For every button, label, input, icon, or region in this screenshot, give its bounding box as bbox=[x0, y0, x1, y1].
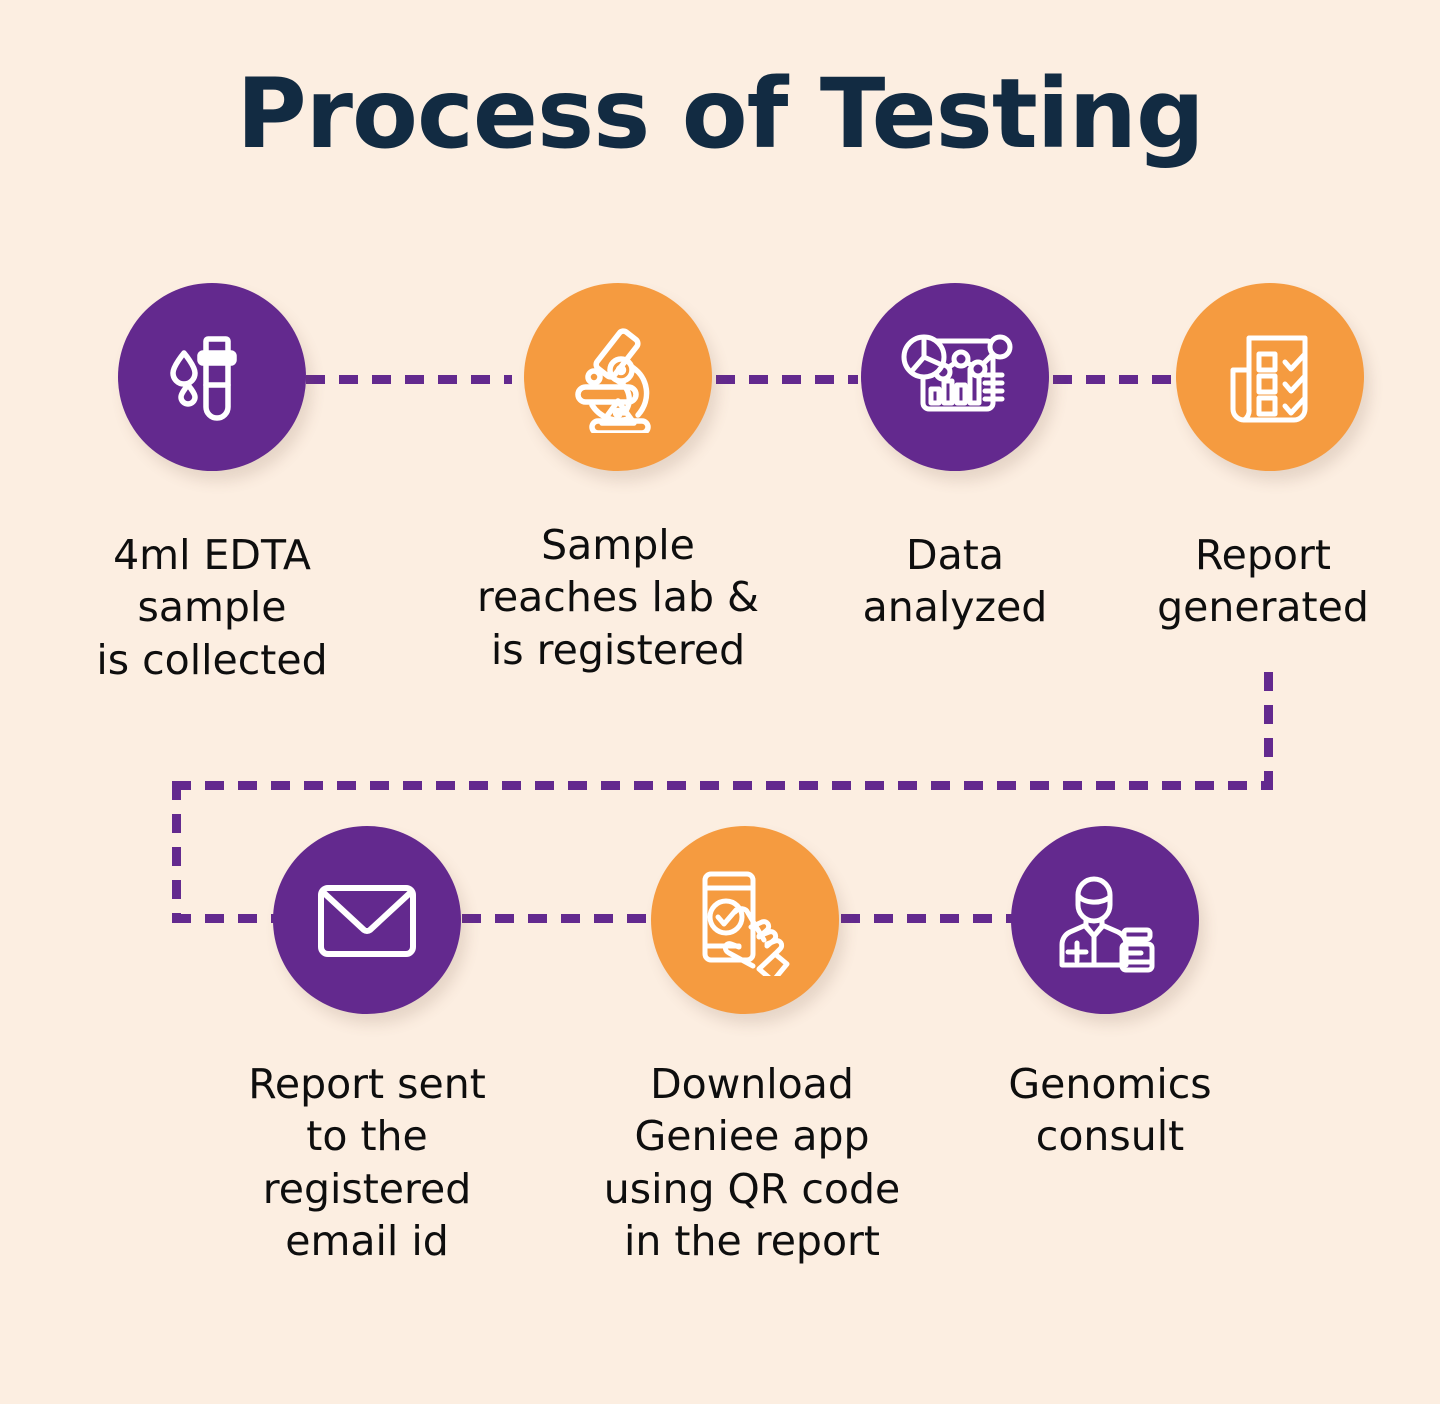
step-1-caption: 4ml EDTA sample is collected bbox=[22, 529, 402, 686]
step-3-caption: Data analyzed bbox=[790, 529, 1120, 634]
connector-step2-to-step3 bbox=[716, 375, 858, 384]
page-title: Process of Testing bbox=[0, 62, 1440, 168]
test-tube-blood-drops-icon bbox=[158, 323, 266, 431]
infographic-canvas: Process of Testing bbox=[0, 0, 1440, 1404]
step-4-caption: Report generated bbox=[1098, 529, 1428, 634]
step-4-circle[interactable] bbox=[1176, 283, 1364, 471]
step-2-caption: Sample reaches lab & is registered bbox=[408, 519, 828, 676]
analytics-dashboard-icon bbox=[897, 319, 1013, 435]
step-2-circle[interactable] bbox=[524, 283, 712, 471]
step-5-caption: Report sent to the registered email id bbox=[177, 1058, 557, 1268]
connector-step6-to-step7 bbox=[841, 914, 1017, 923]
step-7-circle[interactable] bbox=[1011, 826, 1199, 1014]
step-7-caption: Genomics consult bbox=[945, 1058, 1275, 1163]
step-3-circle[interactable] bbox=[861, 283, 1049, 471]
microscope-icon bbox=[562, 321, 674, 433]
step-6-circle[interactable] bbox=[651, 826, 839, 1014]
report-checklist-icon bbox=[1215, 322, 1325, 432]
connector-into-step5 bbox=[172, 914, 282, 923]
connector-step5-to-step6 bbox=[462, 914, 654, 923]
step-6-caption: Download Geniee app using QR code in the… bbox=[552, 1058, 952, 1268]
connector-step3-to-step4 bbox=[1053, 375, 1173, 384]
connector-step1-to-step2 bbox=[306, 375, 512, 384]
envelope-icon bbox=[311, 864, 423, 976]
smartphone-tap-icon bbox=[689, 864, 801, 976]
connector-step4-down bbox=[1264, 672, 1273, 790]
doctor-medicine-icon bbox=[1048, 863, 1162, 977]
connector-row1-to-row2-across bbox=[172, 781, 1273, 790]
connector-row2-left-down bbox=[172, 781, 181, 923]
step-5-circle[interactable] bbox=[273, 826, 461, 1014]
step-1-circle[interactable] bbox=[118, 283, 306, 471]
